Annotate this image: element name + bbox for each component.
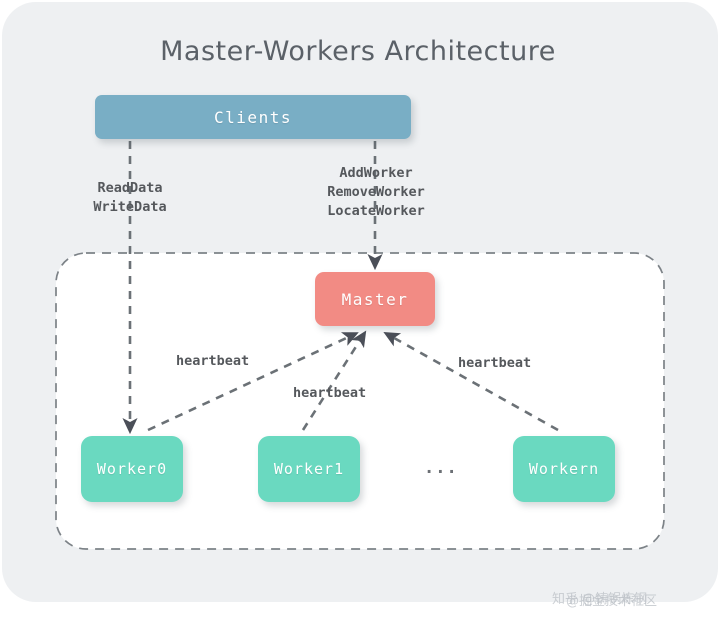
edge-label-heartbeat-left: heartbeat	[176, 352, 249, 371]
diagram-canvas: Master-Workers Architecture Clients Mast…	[0, 0, 720, 625]
node-master[interactable]: Master	[315, 272, 435, 326]
node-clients[interactable]: Clients	[95, 95, 411, 139]
diagram-title: Master-Workers Architecture	[0, 36, 716, 67]
edge-label-master-ops: AddWorker RemoveWorker LocateWorker	[288, 164, 464, 221]
edge-label-client-data-ops: ReadData WriteData	[54, 179, 206, 217]
edge-label-removeworker: RemoveWorker	[288, 183, 464, 202]
edge-label-writedata: WriteData	[54, 198, 206, 217]
edge-label-addworker: AddWorker	[288, 164, 464, 183]
node-worker0[interactable]: Worker0	[81, 436, 183, 502]
edge-label-locateworker: LocateWorker	[288, 202, 464, 221]
edge-label-readdata: ReadData	[54, 179, 206, 198]
worker-ellipsis: ...	[424, 458, 458, 478]
watermark-line-b: @掘金技术社区	[566, 590, 657, 609]
edge-label-heartbeat-middle: heartbeat	[293, 384, 366, 403]
node-workern[interactable]: Workern	[513, 436, 615, 502]
watermark: 知乎 @铸锅炼钢 @掘金技术社区	[552, 586, 702, 612]
edge-label-heartbeat-right: heartbeat	[458, 354, 531, 373]
node-worker1[interactable]: Worker1	[258, 436, 360, 502]
